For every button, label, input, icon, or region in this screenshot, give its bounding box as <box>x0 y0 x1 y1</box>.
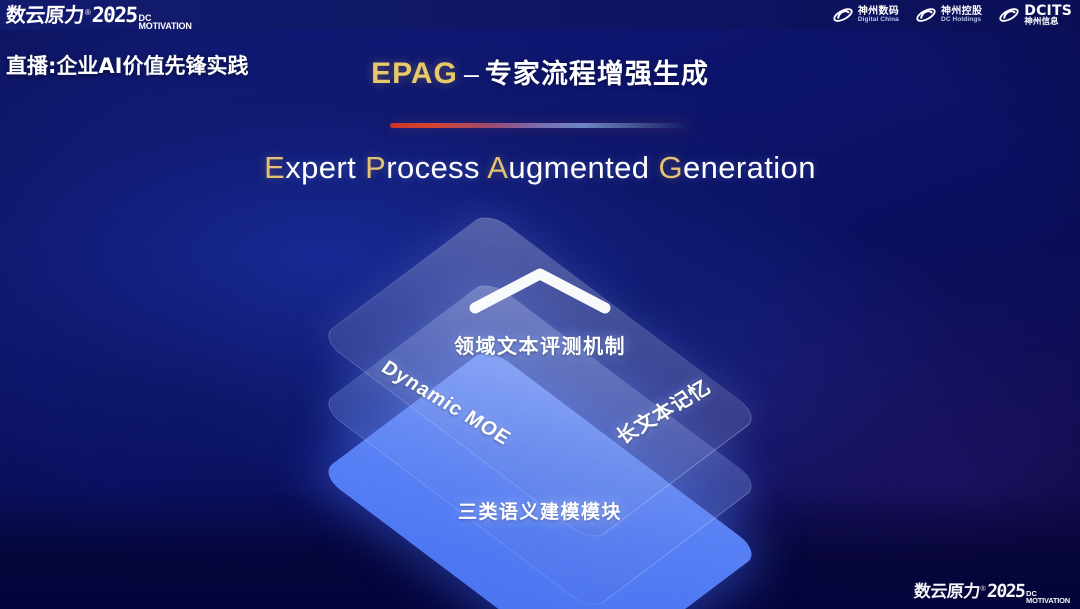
presentation-slide: 数云原力 ® 2025 DC MOTIVATION 神州数码 Digital C… <box>0 0 1080 609</box>
partner-logo-dc-holdings: 神州控股 DC Holdings <box>915 4 982 26</box>
swirl-icon <box>998 4 1020 26</box>
partner-text: DCITS 神州信息 <box>1024 4 1072 27</box>
watermark-logo-motivation: MOTIVATION <box>1026 598 1070 604</box>
partner-text: 神州数码 Digital China <box>858 7 899 24</box>
watermark-logo-registered-mark: ® <box>981 586 986 593</box>
heading-acronym: EPAG <box>371 57 458 90</box>
subtitle-word2-rest: rocess <box>386 150 480 185</box>
partner-logo-dcits: DCITS 神州信息 <box>998 4 1072 27</box>
partner-logo-digital-china: 神州数码 Digital China <box>832 4 899 26</box>
partner-name-en: DC Holdings <box>941 17 982 24</box>
partner-name-en: Digital China <box>858 17 899 24</box>
subtitle-word4-capital: G <box>658 150 683 185</box>
brand-logo: 数云原力 ® 2025 DC MOTIVATION <box>6 0 192 31</box>
brand-logo-year: 2025 <box>91 3 137 27</box>
layer-stack-diagram: 领域文本评测机制 Dynamic MOE 长文本记忆 三类语义建模模块 <box>0 214 1080 574</box>
subtitle-word2-capital: P <box>365 150 386 185</box>
heading-chinese: 专家流程增强生成 <box>485 59 709 90</box>
partner-name-cn: DCITS <box>1024 4 1072 18</box>
brand-logo-chinese: 数云原力 <box>5 0 85 28</box>
subtitle-word4-rest: eneration <box>683 150 816 185</box>
subtitle-word3-capital: A <box>487 150 508 185</box>
chevron-up-icon <box>465 262 615 323</box>
swirl-icon <box>915 4 937 26</box>
watermark-logo-year: 2025 <box>986 581 1025 602</box>
watermark-logo: 数云原力 ® 2025 DC MOTIVATION <box>914 577 1071 605</box>
brand-logo-motivation: MOTIVATION <box>138 23 191 31</box>
gradient-divider <box>390 123 690 128</box>
subtitle-word1-rest: xpert <box>285 150 356 185</box>
swirl-icon <box>832 4 854 26</box>
top-bar: 数云原力 ® 2025 DC MOTIVATION 神州数码 Digital C… <box>0 0 1080 30</box>
watermark-logo-chinese: 数云原力 <box>913 577 981 602</box>
partner-name-en: 神州信息 <box>1024 18 1072 27</box>
watermark-logo-dc-motivation: DC MOTIVATION <box>1026 591 1070 604</box>
subtitle-word3-rest: ugmented <box>508 150 649 185</box>
heading-dash: – <box>464 59 479 89</box>
stack-layer-top-label: 领域文本评测机制 <box>454 330 626 359</box>
stack-layer-bottom-label: 三类语义建模模块 <box>458 497 622 524</box>
brand-logo-registered-mark: ® <box>85 8 91 17</box>
slide-subtitle: Expert Process Augmented Generation <box>0 150 1080 186</box>
subtitle-word1-capital: E <box>264 150 285 185</box>
slide-heading: EPAG–专家流程增强生成 <box>0 52 1080 91</box>
partner-text: 神州控股 DC Holdings <box>941 7 982 24</box>
partner-logo-group: 神州数码 Digital China 神州控股 DC Holdings <box>832 4 1072 27</box>
brand-logo-dc-motivation: DC MOTIVATION <box>138 15 191 30</box>
